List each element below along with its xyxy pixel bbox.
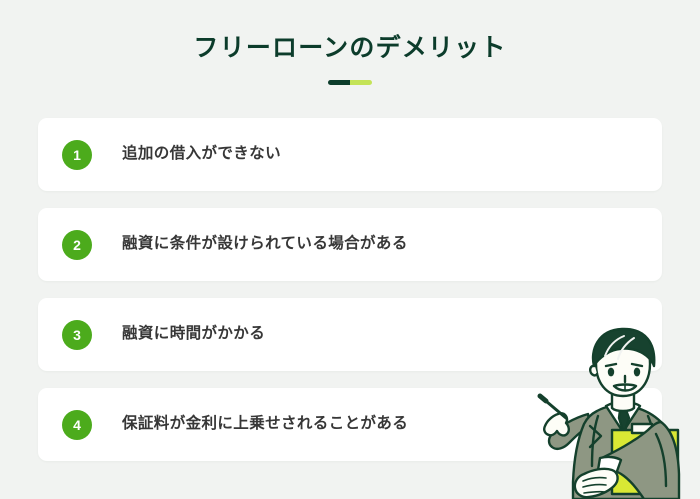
- list-item-label: 追加の借入ができない: [122, 144, 281, 165]
- status-badge: 1: [62, 140, 92, 170]
- list-item-label: 保証料が金利に上乗せされることがある: [122, 414, 408, 435]
- demerit-card-list: 1 追加の借入ができない 2 融資に条件が設けられている場合がある 3 融資に時…: [38, 118, 662, 461]
- title-divider-right-segment: [350, 80, 372, 85]
- finger-line-2: [583, 485, 606, 487]
- status-badge: 3: [62, 320, 92, 350]
- list-item[interactable]: 2 融資に条件が設けられている場合がある: [38, 208, 662, 281]
- holding-hand: [575, 469, 618, 497]
- heading-block: フリーローンのデメリット: [0, 33, 700, 85]
- status-badge: 4: [62, 410, 92, 440]
- finger-line-3: [584, 492, 605, 493]
- list-item[interactable]: 1 追加の借入ができない: [38, 118, 662, 191]
- title-divider: [328, 80, 372, 85]
- title-divider-left-segment: [328, 80, 350, 85]
- page-title: フリーローンのデメリット: [0, 33, 700, 63]
- list-item[interactable]: 3 融資に時間がかかる: [38, 298, 662, 371]
- status-badge: 2: [62, 230, 92, 260]
- list-item[interactable]: 4 保証料が金利に上乗せされることがある: [38, 388, 662, 461]
- list-item-label: 融資に条件が設けられている場合がある: [122, 234, 408, 255]
- list-item-label: 融資に時間がかかる: [122, 324, 265, 345]
- finger-line-1: [583, 478, 606, 481]
- infographic-canvas: フリーローンのデメリット 1 追加の借入ができない 2 融資に条件が設けられてい…: [0, 0, 700, 499]
